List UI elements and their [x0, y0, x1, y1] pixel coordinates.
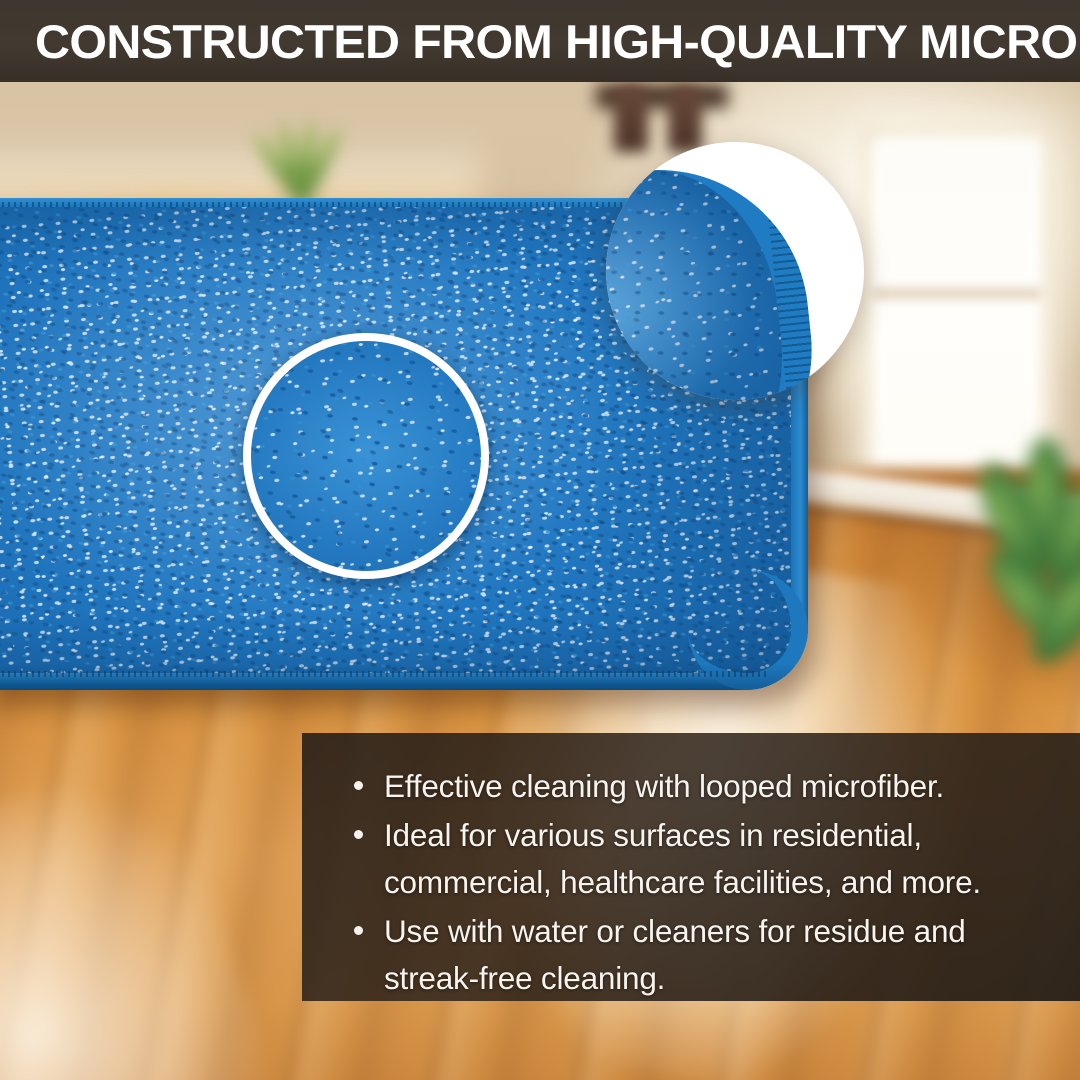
product-feature-image: Effective cleaning with looped microfibe… — [0, 0, 1080, 1080]
list-item: Effective cleaning with looped microfibe… — [348, 763, 1054, 810]
bullet-text: Use with water or cleaners for residue a… — [384, 913, 966, 996]
feature-bullets-panel: Effective cleaning with looped microfibe… — [302, 733, 1080, 1001]
pad-edge-shadow — [0, 664, 808, 690]
plant-right-icon — [984, 430, 1080, 690]
bullet-dot-icon — [354, 926, 363, 935]
page-title: CONSTRUCTED FROM HIGH-QUALITY MICROFIBER — [0, 18, 1080, 65]
window-mullion — [873, 288, 1041, 299]
window — [873, 138, 1041, 468]
plant-left-icon — [246, 92, 366, 212]
bullet-dot-icon — [354, 781, 363, 790]
texture-magnifier-ring — [243, 333, 489, 579]
bullet-dot-icon — [354, 830, 363, 839]
list-item: Ideal for various surfaces in residentia… — [348, 812, 1054, 906]
corner-magnifier-circle — [606, 142, 864, 400]
bullet-text: Effective cleaning with looped microfibe… — [384, 768, 944, 804]
list-item: Use with water or cleaners for residue a… — [348, 908, 1054, 1002]
furniture-leg-left — [614, 86, 648, 152]
feature-bullet-list: Effective cleaning with looped microfibe… — [348, 763, 1054, 1002]
header-bar: CONSTRUCTED FROM HIGH-QUALITY MICROFIBER — [0, 0, 1080, 82]
magnified-pad-corner — [606, 155, 826, 400]
furniture-leg-right — [668, 86, 702, 152]
magnified-pad-binding — [643, 155, 827, 400]
bullet-text: Ideal for various surfaces in residentia… — [384, 817, 981, 900]
